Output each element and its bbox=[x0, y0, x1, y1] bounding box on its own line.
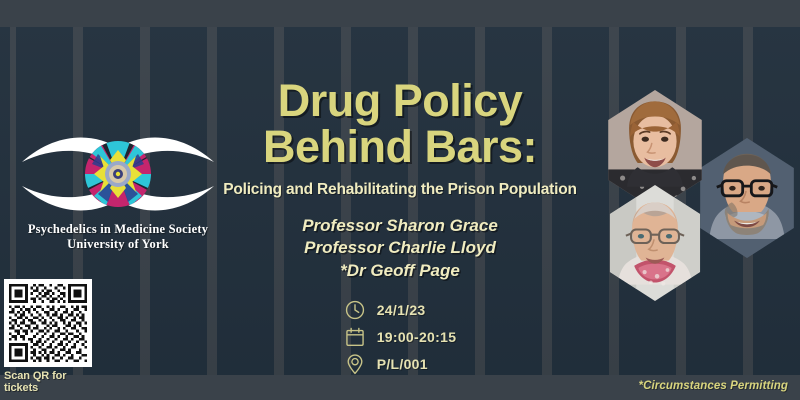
footnote-disclaimer: *Circumstances Permitting bbox=[639, 380, 789, 392]
detail-row-location: P/L/001 bbox=[344, 350, 457, 377]
society-name-line2: University of York bbox=[18, 237, 218, 252]
poster-main-content: Drug Policy Behind Bars: Policing and Re… bbox=[190, 0, 610, 400]
qr-code-icon bbox=[9, 284, 87, 362]
speaker-name: *Dr Geoff Page bbox=[190, 260, 610, 282]
qr-ticket-block[interactable]: Scan QR for tickets bbox=[4, 279, 100, 394]
event-poster: Psychedelics in Medicine Society Univers… bbox=[0, 0, 800, 400]
event-details: 24/1/23 19:00-20:15 P/L/001 bbox=[344, 296, 457, 377]
event-date: 24/1/23 bbox=[377, 302, 426, 318]
qr-code[interactable] bbox=[4, 279, 92, 367]
detail-row-date: 24/1/23 bbox=[344, 296, 457, 323]
qr-caption: Scan QR for tickets bbox=[4, 370, 100, 394]
psychedelic-eye-logo-icon bbox=[18, 128, 218, 220]
speaker-list: Professor Sharon Grace Professor Charlie… bbox=[190, 215, 610, 282]
speaker-name: Professor Sharon Grace bbox=[190, 215, 610, 237]
clock-icon bbox=[344, 299, 366, 321]
title-line-1: Drug Policy bbox=[278, 75, 523, 126]
society-logo-block: Psychedelics in Medicine Society Univers… bbox=[18, 128, 218, 252]
calendar-icon bbox=[344, 326, 366, 348]
page-title: Drug Policy Behind Bars: bbox=[190, 78, 610, 171]
event-location: P/L/001 bbox=[377, 356, 428, 372]
location-pin-icon bbox=[344, 353, 366, 375]
detail-row-time: 19:00-20:15 bbox=[344, 323, 457, 350]
portrait-image bbox=[693, 138, 800, 258]
portrait-image bbox=[603, 185, 707, 301]
portrait-geoff-page bbox=[603, 185, 707, 301]
title-line-2: Behind Bars: bbox=[190, 124, 610, 170]
event-time: 19:00-20:15 bbox=[377, 329, 457, 345]
portrait-charlie-lloyd bbox=[693, 138, 800, 258]
speaker-name: Professor Charlie Lloyd bbox=[190, 237, 610, 259]
society-name: Psychedelics in Medicine Society Univers… bbox=[18, 222, 218, 252]
speaker-portraits bbox=[585, 90, 800, 305]
society-name-line1: Psychedelics in Medicine Society bbox=[18, 222, 218, 237]
poster-subtitle: Policing and Rehabilitating the Prison P… bbox=[190, 181, 610, 199]
